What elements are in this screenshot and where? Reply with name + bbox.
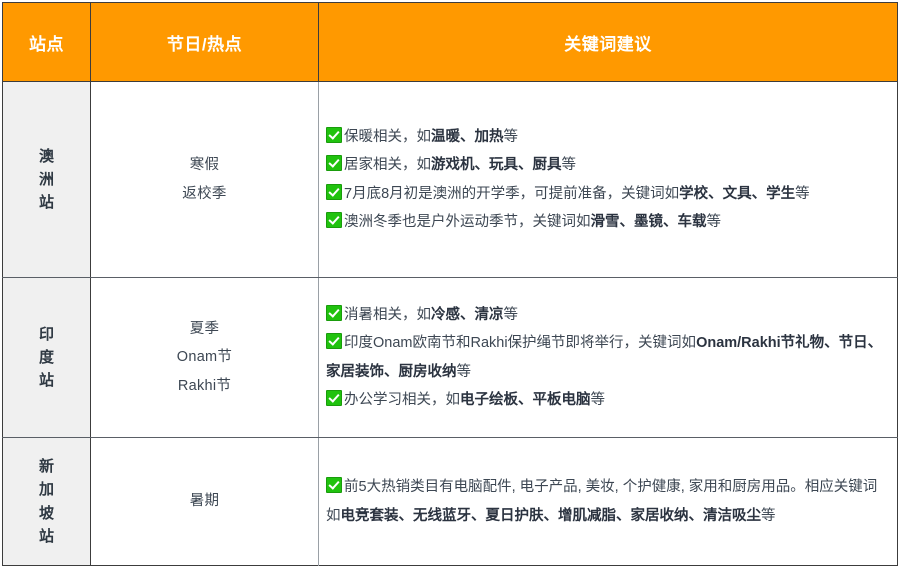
site-name-cell: 新加坡站 (3, 438, 91, 566)
keyword-term: 游戏机、玩具、厨具 (431, 157, 562, 173)
keyword-suggestion-item: 7月底8月初是澳洲的开学季，可提前准备，关键词如学校、文具、学生等 (326, 180, 891, 208)
table-header-row: 站点 节日/热点 关键词建议 (3, 3, 898, 82)
festival-cell: 暑期 (91, 438, 319, 566)
keyword-term: 冷感、清凉 (431, 307, 504, 323)
keyword-text: 等 (591, 392, 606, 408)
keyword-suggestion-item: 居家相关，如游戏机、玩具、厨具等 (326, 151, 891, 179)
green-check-icon (326, 333, 342, 349)
site-name-cell: 印度站 (3, 278, 91, 438)
keyword-suggestions-cell: 前5大热销类目有电脑配件, 电子产品, 美妆, 个护健康, 家用和厨房用品。相应… (319, 438, 898, 566)
table-row: 澳洲站寒假返校季保暖相关，如温暖、加热等居家相关，如游戏机、玩具、厨具等7月底8… (3, 82, 898, 278)
keyword-suggestion-item: 消暑相关，如冷感、清凉等 (326, 301, 891, 329)
keyword-text: 等 (562, 157, 577, 173)
festival-line: 夏季 (91, 315, 318, 343)
keyword-text: 等 (761, 508, 776, 524)
table-row: 新加坡站暑期前5大热销类目有电脑配件, 电子产品, 美妆, 个护健康, 家用和厨… (3, 438, 898, 566)
green-check-icon (326, 477, 342, 493)
green-check-icon (326, 305, 342, 321)
column-header-festival: 节日/热点 (91, 3, 319, 82)
festival-cell: 寒假返校季 (91, 82, 319, 278)
keyword-text: 居家相关，如 (344, 157, 431, 173)
keyword-suggestion-item: 印度Onam欧南节和Rakhi保护绳节即将举行，关键词如Onam/Rakhi节礼… (326, 329, 891, 386)
keyword-suggestion-item: 前5大热销类目有电脑配件, 电子产品, 美妆, 个护健康, 家用和厨房用品。相应… (326, 473, 891, 530)
keyword-text: 消暑相关，如 (344, 307, 431, 323)
keyword-term: 温暖、加热 (431, 129, 504, 145)
keyword-text: 等 (504, 307, 519, 323)
site-name-cell: 澳洲站 (3, 82, 91, 278)
green-check-icon (326, 184, 342, 200)
keyword-text: 等 (457, 364, 472, 380)
keyword-term: 学校、文具、学生 (679, 186, 795, 202)
festival-line: Onam节 (91, 343, 318, 371)
keyword-text: 澳洲冬季也是户外运动季节，关键词如 (344, 214, 591, 230)
table-row: 印度站夏季Onam节Rakhi节消暑相关，如冷感、清凉等印度Onam欧南节和Ra… (3, 278, 898, 438)
table-header: 站点 节日/热点 关键词建议 (3, 3, 898, 82)
keyword-text: 保暖相关，如 (344, 129, 431, 145)
site-name-label: 印度站 (39, 323, 54, 393)
keyword-suggestion-table: 站点 节日/热点 关键词建议 澳洲站寒假返校季保暖相关，如温暖、加热等居家相关，… (2, 2, 898, 566)
keyword-term: 电子绘板、平板电脑 (460, 392, 591, 408)
column-header-keywords: 关键词建议 (319, 3, 898, 82)
green-check-icon (326, 127, 342, 143)
site-name-label: 澳洲站 (39, 145, 54, 215)
keyword-suggestion-item: 保暖相关，如温暖、加热等 (326, 123, 891, 151)
keyword-suggestion-table-container: 站点 节日/热点 关键词建议 澳洲站寒假返校季保暖相关，如温暖、加热等居家相关，… (0, 0, 901, 563)
festival-line: 返校季 (91, 180, 318, 208)
green-check-icon (326, 155, 342, 171)
keyword-text: 办公学习相关，如 (344, 392, 460, 408)
keyword-text: 等 (795, 186, 810, 202)
site-name-label: 新加坡站 (39, 455, 54, 548)
column-header-site: 站点 (3, 3, 91, 82)
green-check-icon (326, 390, 342, 406)
festival-cell: 夏季Onam节Rakhi节 (91, 278, 319, 438)
festival-line: 暑期 (91, 487, 318, 515)
keyword-text: 等 (504, 129, 519, 145)
keyword-suggestions-cell: 消暑相关，如冷感、清凉等印度Onam欧南节和Rakhi保护绳节即将举行，关键词如… (319, 278, 898, 438)
keyword-term: 电竞套装、无线蓝牙、夏日护肤、增肌减脂、家居收纳、清洁吸尘 (341, 508, 762, 524)
green-check-icon (326, 212, 342, 228)
keyword-suggestion-item: 办公学习相关，如电子绘板、平板电脑等 (326, 386, 891, 414)
keyword-suggestion-item: 澳洲冬季也是户外运动季节，关键词如滑雪、墨镜、车载等 (326, 208, 891, 236)
festival-line: 寒假 (91, 151, 318, 179)
keyword-text: 印度Onam欧南节和Rakhi保护绳节即将举行，关键词如 (344, 335, 696, 351)
table-body: 澳洲站寒假返校季保暖相关，如温暖、加热等居家相关，如游戏机、玩具、厨具等7月底8… (3, 82, 898, 566)
keyword-term: 滑雪、墨镜、车载 (591, 214, 707, 230)
festival-line: Rakhi节 (91, 372, 318, 400)
keyword-suggestions-cell: 保暖相关，如温暖、加热等居家相关，如游戏机、玩具、厨具等7月底8月初是澳洲的开学… (319, 82, 898, 278)
keyword-text: 等 (707, 214, 722, 230)
keyword-text: 7月底8月初是澳洲的开学季，可提前准备，关键词如 (344, 186, 679, 202)
